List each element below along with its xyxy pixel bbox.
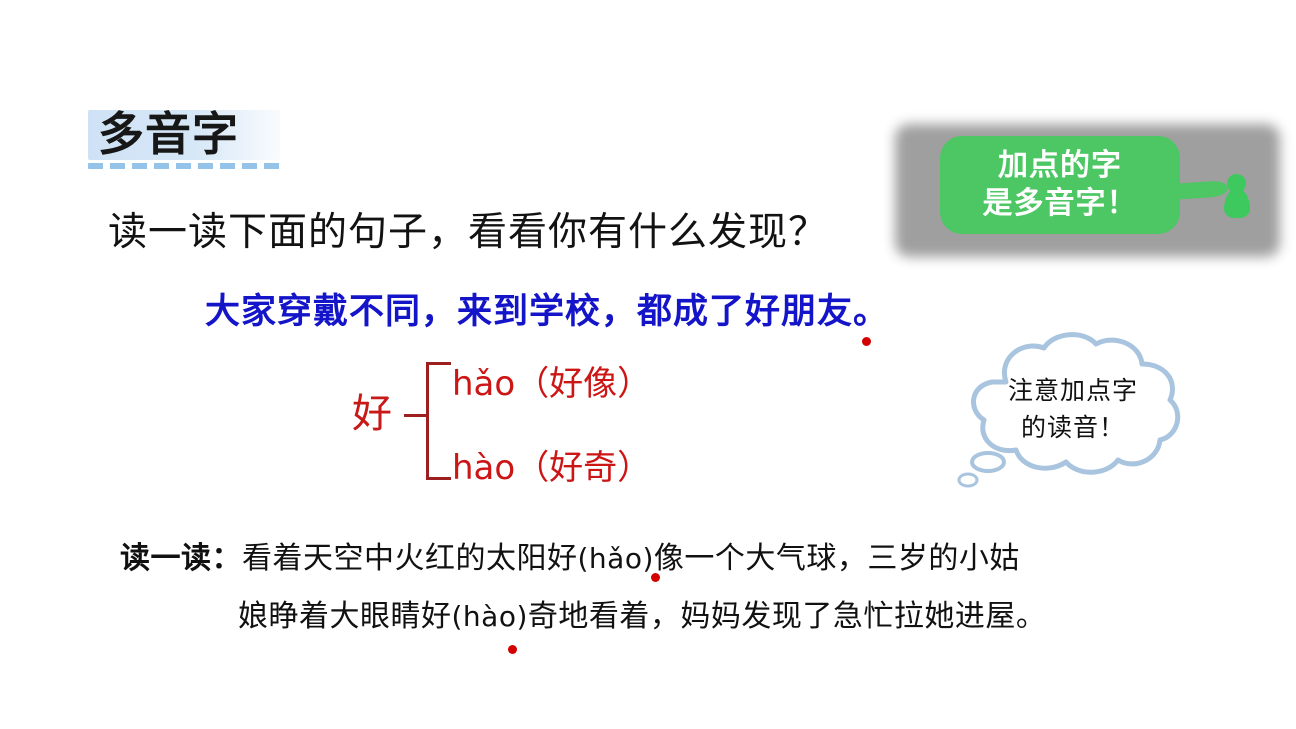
pawn-body [1224,188,1250,218]
example-word-text: （好奇） [515,448,651,488]
emphasis-dot-icon [862,337,871,346]
reading-line-1-after: 像一个大气球，三岁的小姑 [654,541,1020,576]
emphasis-dot-icon [508,645,517,654]
green-callout: 加点的字 是多音字！ [880,110,1290,270]
reading-line-2-pinyin: (hào) [452,600,528,633]
reading-line-1-before: 看着天空中火红的太阳好 [242,541,578,576]
pawn-figure-icon [1224,174,1250,218]
reading-line-2-before: 娘睁着大眼睛好 [238,599,452,634]
cloud-text: 注意加点字 的读音！ [948,372,1198,446]
cloud-callout: 注意加点字 的读音！ [948,330,1198,495]
reading-label: 读一读： [120,541,242,576]
title-dashed-underline [88,163,280,169]
pronunciation-row: hǎo（好像） [452,356,651,405]
pronunciation-group: 好 hǎo（好像） hào（好奇） [352,352,672,482]
slide-root: 多音字 读一读下面的句子，看看你有什么发现？ 大家穿戴不同，来到学校，都成了好朋… [0,0,1296,729]
reading-paragraph: 读一读：看着天空中火红的太阳好(hǎo)像一个大气球，三岁的小姑 娘睁着大眼睛好… [120,530,1210,646]
callout-line-2: 是多音字！ [983,185,1138,223]
reading-line-2: 娘睁着大眼睛好(hào)奇地看着，妈妈发现了急忙拉她进屋。 [120,588,1210,646]
bracket-icon [426,362,451,480]
example-sentence: 大家穿戴不同，来到学校，都成了好朋友。 [205,289,889,335]
title-text: 多音字 [98,106,239,162]
callout-text: 加点的字 是多音字！ [942,136,1178,234]
emphasis-dot-icon [651,573,660,582]
pronunciation-character: 好 [352,390,392,438]
example-word-text: （好像） [515,364,651,404]
pinyin-text: hǎo [452,364,515,404]
cloud-line-2: 的读音！ [948,409,1198,446]
pronunciation-row: hào（好奇） [452,440,651,489]
cloud-line-1: 注意加点字 [948,372,1198,409]
bracket-connector [404,414,426,417]
callout-line-1: 加点的字 [998,147,1122,185]
page-title: 多音字 [88,110,280,172]
pinyin-text: hào [452,448,515,488]
reading-line-2-after: 奇地看着，妈妈发现了急忙拉她进屋。 [528,599,1047,634]
instruction-text: 读一读下面的句子，看看你有什么发现？ [108,207,828,259]
reading-line-1: 读一读：看着天空中火红的太阳好(hǎo)像一个大气球，三岁的小姑 [120,530,1210,588]
reading-line-1-pinyin: (hǎo) [578,542,654,575]
